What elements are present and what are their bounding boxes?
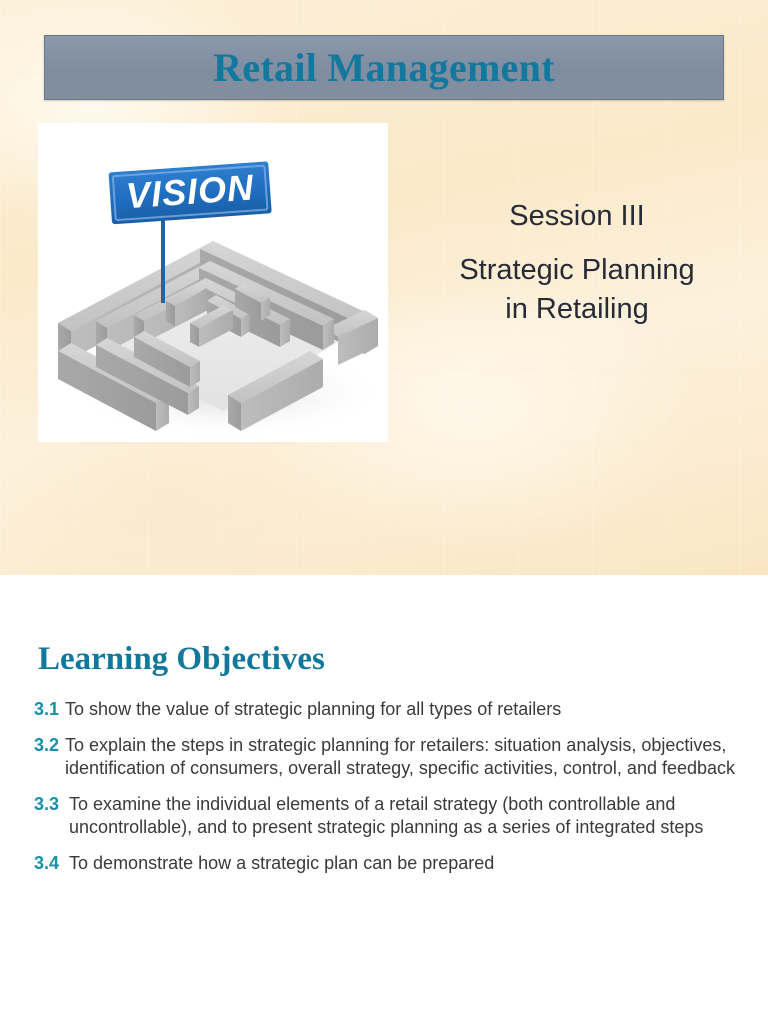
objective-text: To examine the individual elements of a … bbox=[69, 793, 750, 839]
objective-text: To show the value of strategic planning … bbox=[65, 698, 750, 721]
objective-number: 3.4 bbox=[34, 852, 69, 875]
objective-number: 3.1 bbox=[34, 698, 65, 721]
page-title: Retail Management bbox=[213, 48, 555, 88]
objective-text: To explain the steps in strategic planni… bbox=[65, 734, 750, 780]
vision-maze-image: VISION bbox=[38, 123, 388, 442]
title-slide: Retail Management bbox=[0, 0, 768, 575]
session-topic-line-2: in Retailing bbox=[412, 290, 742, 328]
objective-item: 3.4 To demonstrate how a strategic plan … bbox=[34, 852, 750, 875]
learning-objectives-heading: Learning Objectives bbox=[38, 643, 325, 676]
session-info: Session III Strategic Planning in Retail… bbox=[412, 200, 742, 328]
objective-item: 3.3 To examine the individual elements o… bbox=[34, 793, 750, 839]
learning-objectives-slide: Learning Objectives 3.1 To show the valu… bbox=[0, 575, 768, 1024]
vision-sign: VISION bbox=[109, 161, 272, 224]
objective-number: 3.3 bbox=[34, 793, 69, 816]
objective-number: 3.2 bbox=[34, 734, 65, 757]
session-topic-line-1: Strategic Planning bbox=[412, 251, 742, 289]
objective-item: 3.2 To explain the steps in strategic pl… bbox=[34, 734, 750, 780]
maze-illustration: VISION bbox=[38, 123, 388, 442]
learning-objectives-list: 3.1 To show the value of strategic plann… bbox=[34, 698, 750, 888]
title-banner: Retail Management bbox=[44, 35, 724, 100]
objective-item: 3.1 To show the value of strategic plann… bbox=[34, 698, 750, 721]
session-number: Session III bbox=[412, 200, 742, 233]
objective-text: To demonstrate how a strategic plan can … bbox=[69, 852, 750, 875]
